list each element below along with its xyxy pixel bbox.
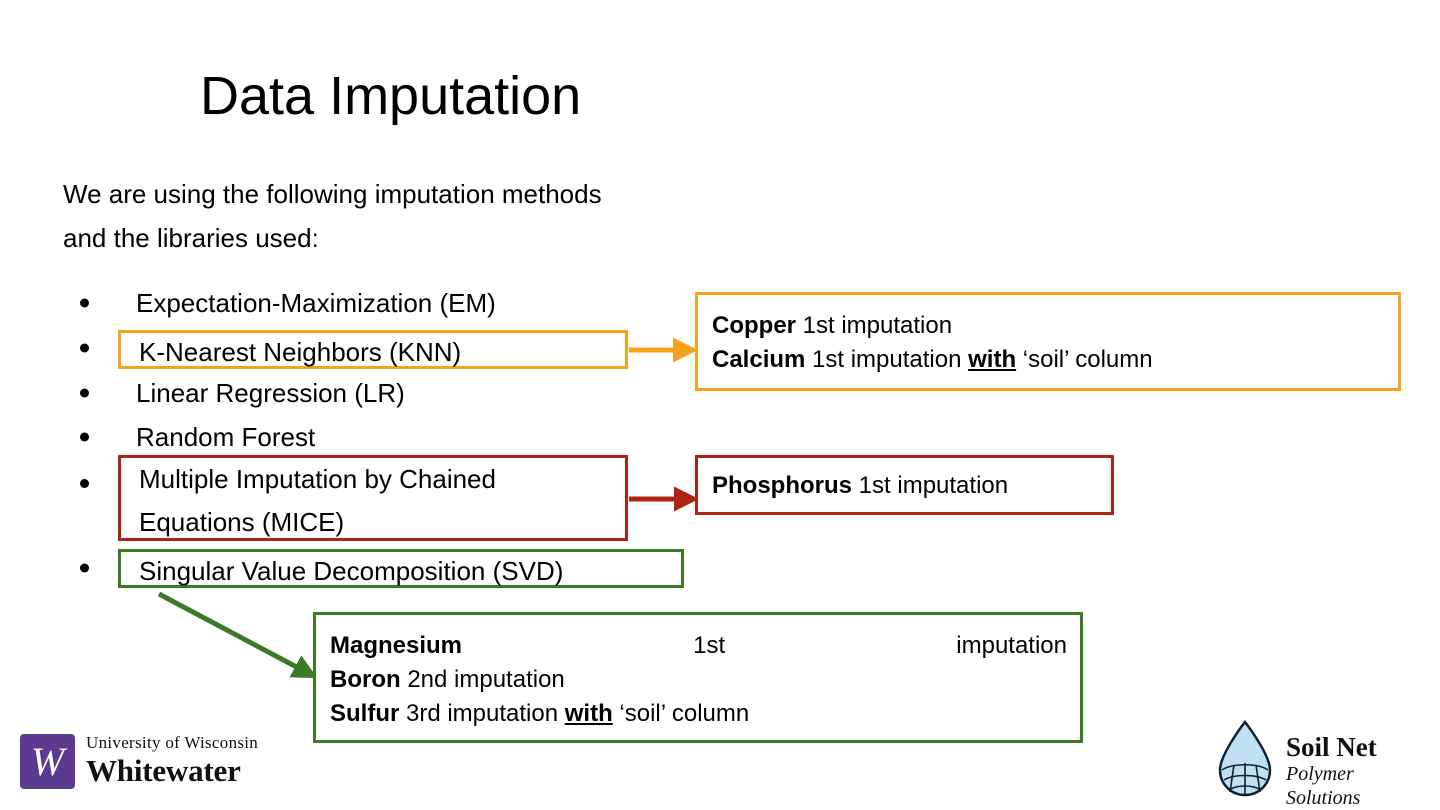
element-name-boron: Boron [330, 666, 401, 693]
bullet-label-mice: Multiple Imputation by Chained Equations… [139, 458, 609, 544]
bullet-dot-icon [80, 389, 89, 398]
callout-box-magnesium-boron-sulfur: Magnesium1stimputation Boron 2nd imputat… [313, 612, 1083, 743]
callout-line-phosphorus: Phosphorus 1st imputation [712, 469, 1097, 503]
callout-line-calcium: Calcium 1st imputation with ‘soil’ colum… [712, 343, 1384, 377]
bullet-dot-icon [80, 479, 89, 488]
slide-canvas: Data Imputation We are using the followi… [0, 0, 1440, 810]
soil-net-name: Soil Net [1286, 732, 1432, 762]
bullet-label-knn: K-Nearest Neighbors (KNN) [139, 333, 461, 372]
callout-copper-detail: 1st imputation [796, 312, 952, 339]
callout-sulfur-with: with [565, 700, 613, 727]
callout-calcium-with: with [968, 346, 1016, 373]
callout-line-boron: Boron 2nd imputation [330, 663, 1066, 697]
uww-university-line: University of Wisconsin [86, 732, 258, 754]
bullet-dot-icon [80, 299, 89, 308]
list-item: Linear Regression (LR) [0, 371, 700, 415]
uww-logo-text: University of Wisconsin Whitewater [86, 732, 258, 788]
callout-calcium-detail: 1st imputation [805, 346, 968, 373]
uww-w-mark-icon: W [20, 734, 75, 789]
soil-net-tagline: Polymer Solutions [1286, 762, 1432, 810]
bullet-dot-icon [80, 433, 89, 442]
bullet-dot-icon [80, 344, 89, 353]
callout-box-copper-calcium: Copper 1st imputation Calcium 1st imputa… [695, 292, 1401, 391]
callout-calcium-tail: ‘soil’ column [1016, 346, 1153, 373]
list-item: Expectation-Maximization (EM) [0, 281, 700, 325]
callout-line-sulfur: Sulfur 3rd imputation with ‘soil’ column [330, 697, 1066, 731]
bullet-dot-icon [80, 564, 89, 573]
page-title: Data Imputation [200, 63, 581, 129]
callout-line-magnesium: Magnesium1stimputation [330, 629, 1067, 663]
uww-whitewater-line: Whitewater [86, 754, 258, 788]
callout-box-phosphorus: Phosphorus 1st imputation [695, 455, 1114, 515]
element-name-magnesium: Magnesium [330, 629, 462, 663]
soil-net-logo-text: Soil Net Polymer Solutions [1286, 732, 1432, 810]
callout-phosphorus-detail: 1st imputation [852, 472, 1008, 499]
uw-whitewater-logo: W University of Wisconsin Whitewater [20, 732, 280, 794]
list-item: Random Forest [0, 415, 700, 459]
highlight-box-svd[interactable]: Singular Value Decomposition (SVD) [118, 549, 684, 588]
element-name-phosphorus: Phosphorus [712, 472, 852, 499]
intro-paragraph: We are using the following imputation me… [63, 172, 623, 260]
highlight-box-knn[interactable]: K-Nearest Neighbors (KNN) [118, 330, 628, 369]
bullet-label-random-forest: Random Forest [136, 415, 315, 459]
callout-line-copper: Copper 1st imputation [712, 309, 1384, 343]
callout-magnesium-order: 1st [693, 629, 725, 663]
element-name-copper: Copper [712, 312, 796, 339]
element-name-sulfur: Sulfur [330, 700, 399, 727]
element-name-calcium: Calcium [712, 346, 805, 373]
callout-boron-detail: 2nd imputation [401, 666, 565, 693]
callout-sulfur-detail: 3rd imputation [399, 700, 564, 727]
bullet-label-lr: Linear Regression (LR) [136, 371, 405, 415]
bullet-label-svd: Singular Value Decomposition (SVD) [139, 552, 563, 591]
arrow-svd-to-magnesium [159, 594, 306, 672]
callout-magnesium-word: imputation [956, 629, 1067, 663]
highlight-box-mice[interactable]: Multiple Imputation by Chained Equations… [118, 455, 628, 541]
bullet-label-em: Expectation-Maximization (EM) [136, 281, 496, 325]
soil-net-logo: Soil Net Polymer Solutions [1210, 718, 1432, 800]
water-droplet-icon [1210, 718, 1280, 800]
callout-sulfur-tail: ‘soil’ column [613, 700, 750, 727]
